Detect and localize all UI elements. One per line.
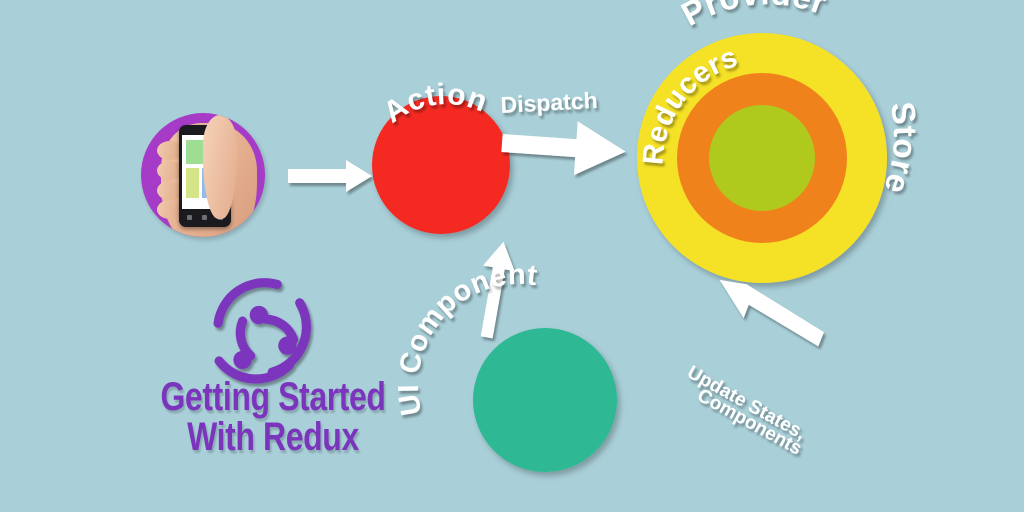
edge-action-store: Dispatch bbox=[500, 87, 628, 179]
node-ui-component[interactable] bbox=[473, 328, 617, 472]
diagram-canvas: Dispatch Update States, Components Actio… bbox=[0, 0, 1024, 512]
redux-dot-top bbox=[250, 306, 268, 324]
redux-logo bbox=[218, 283, 306, 379]
arrow-photo-to-action bbox=[288, 160, 372, 192]
redux-dot-right bbox=[278, 336, 296, 354]
node-store-rings[interactable] bbox=[637, 33, 887, 283]
circle-state[interactable] bbox=[709, 105, 815, 211]
redux-inner-right bbox=[266, 319, 294, 339]
redux-dot-left bbox=[233, 351, 251, 369]
arrow-action-to-store bbox=[500, 116, 627, 179]
edge-label-dispatch: Dispatch bbox=[500, 87, 598, 118]
edge-store-ui: Update States, Components bbox=[684, 269, 827, 460]
edge-photo-action bbox=[288, 160, 372, 192]
page-title: Getting Started With Redux bbox=[141, 378, 405, 457]
redux-inner-left bbox=[240, 321, 250, 356]
node-label-provider: Provider bbox=[675, 0, 832, 33]
